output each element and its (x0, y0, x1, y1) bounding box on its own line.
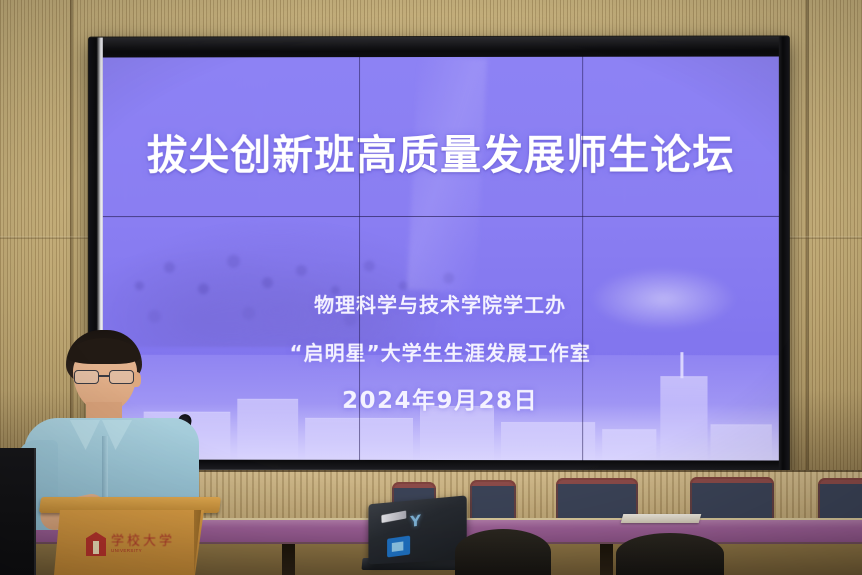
laptop-badge (381, 510, 406, 523)
av-equipment (0, 448, 36, 575)
lecture-hall-photo: 拔尖创新班高质量发展师生论坛 物理科学与技术学院学工办 “启明星”大学生生涯发展… (0, 0, 862, 575)
video-wall-bezel-top (89, 36, 789, 57)
slide-date: 2024年9月28日 (103, 381, 779, 416)
panel-seam-vertical (359, 57, 360, 460)
laptop-lid: Y (368, 495, 466, 564)
glasses-lens-right (109, 370, 134, 384)
paper-document (621, 514, 702, 523)
desk-leg (282, 544, 295, 575)
panel-seam-vertical (582, 57, 583, 460)
university-name-cn: 学校大学 (111, 535, 175, 548)
audience-head (455, 529, 551, 575)
slide-title: 拔尖创新班高质量发展师生论坛 (103, 121, 779, 182)
slide-subtitle-1: 物理科学与技术学院学工办 (103, 289, 779, 318)
university-emblem-icon (86, 532, 106, 556)
slide-subtitle-2: “启明星”大学生生涯发展工作室 (103, 337, 779, 366)
desk-leg (600, 544, 613, 575)
audience-head (616, 533, 724, 575)
panel-seam-horizontal (103, 216, 779, 217)
presentation-slide: 拔尖创新班高质量发展师生论坛 物理科学与技术学院学工办 “启明星”大学生生涯发展… (103, 56, 779, 460)
slide-text-block: 拔尖创新班高质量发展师生论坛 物理科学与技术学院学工办 “启明星”大学生生涯发展… (103, 56, 779, 460)
university-logo: 学校大学 UNIVERSITY (86, 527, 206, 561)
video-wall-bezel-right (779, 36, 789, 477)
university-logo-text: 学校大学 UNIVERSITY (111, 535, 175, 554)
laptop-brand-glyph-icon: Y (410, 513, 426, 529)
laptop-sticker (387, 536, 410, 558)
glasses-icon (74, 370, 136, 384)
lectern: 学校大学 UNIVERSITY (40, 497, 220, 575)
chair (690, 477, 774, 524)
glasses-lens-left (74, 370, 99, 384)
glasses-bridge (99, 375, 109, 377)
university-name-en: UNIVERSITY (111, 549, 175, 554)
